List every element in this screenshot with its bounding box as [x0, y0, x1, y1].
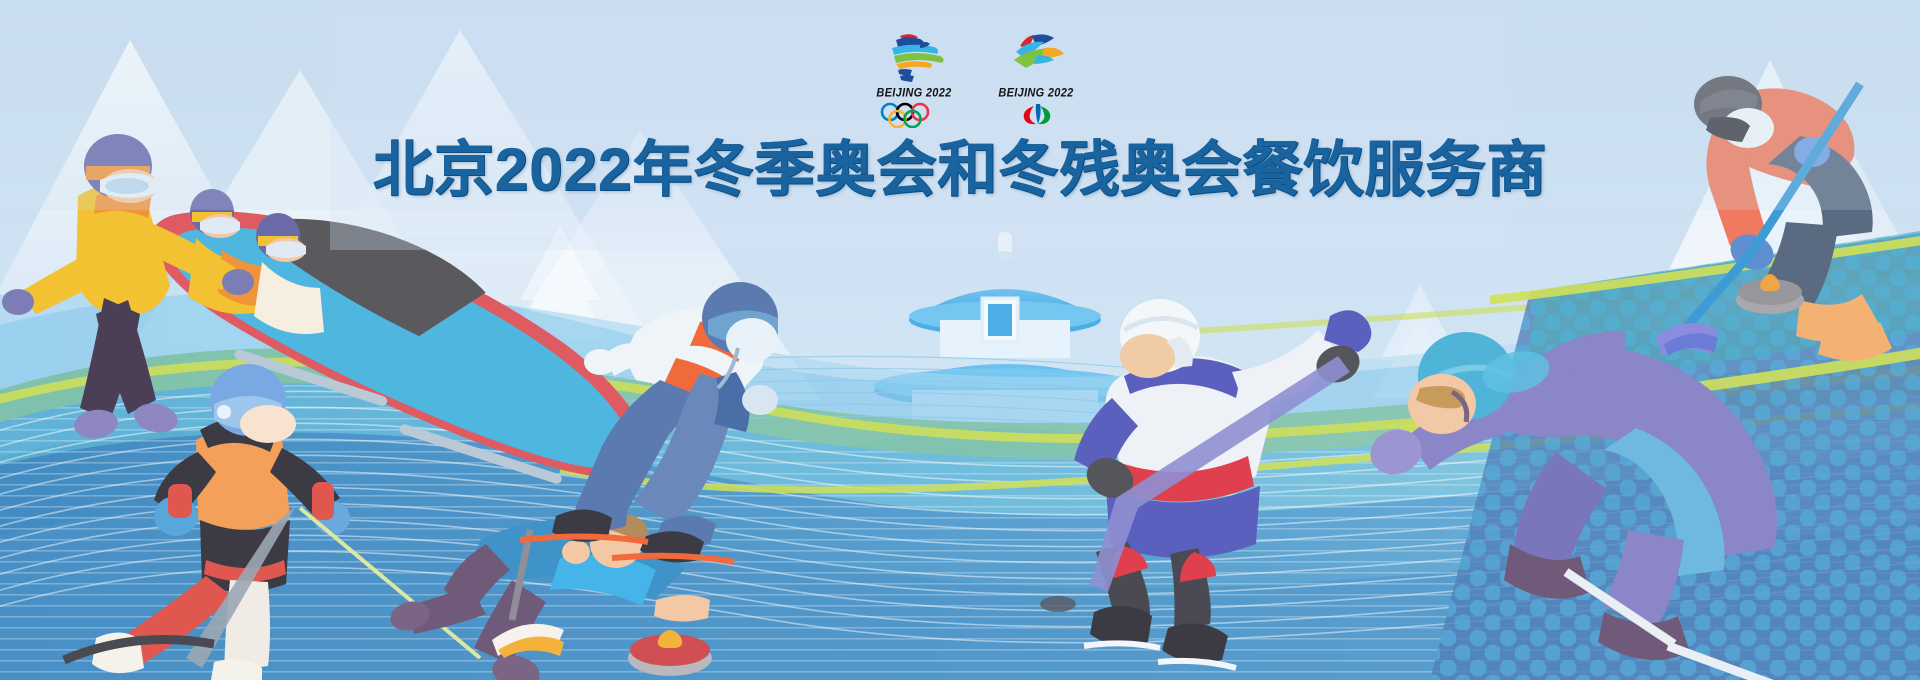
- paralympic-wordmark: BEIJING 2022: [998, 86, 1073, 99]
- beijing-2022-winter-paralympic-emblem: [996, 30, 1076, 86]
- paralympic-logo-block: BEIJING 2022: [986, 30, 1086, 128]
- olympic-wordmark: BEIJING 2022: [876, 86, 951, 99]
- beijing-2022-winter-olympic-emblem: [874, 30, 954, 86]
- banner-title: 北京2022年冬季奥会和冬残奥会餐饮服务商: [0, 138, 1920, 203]
- olympic-rings: [876, 102, 952, 128]
- olympic-logo-block: BEIJING 2022: [864, 30, 964, 128]
- olympic-sponsor-banner: BEIJING 2022 BEIJING 20: [0, 0, 1920, 680]
- paralympic-agitos: [998, 102, 1074, 128]
- emblem-row: BEIJING 2022 BEIJING 20: [860, 30, 1090, 140]
